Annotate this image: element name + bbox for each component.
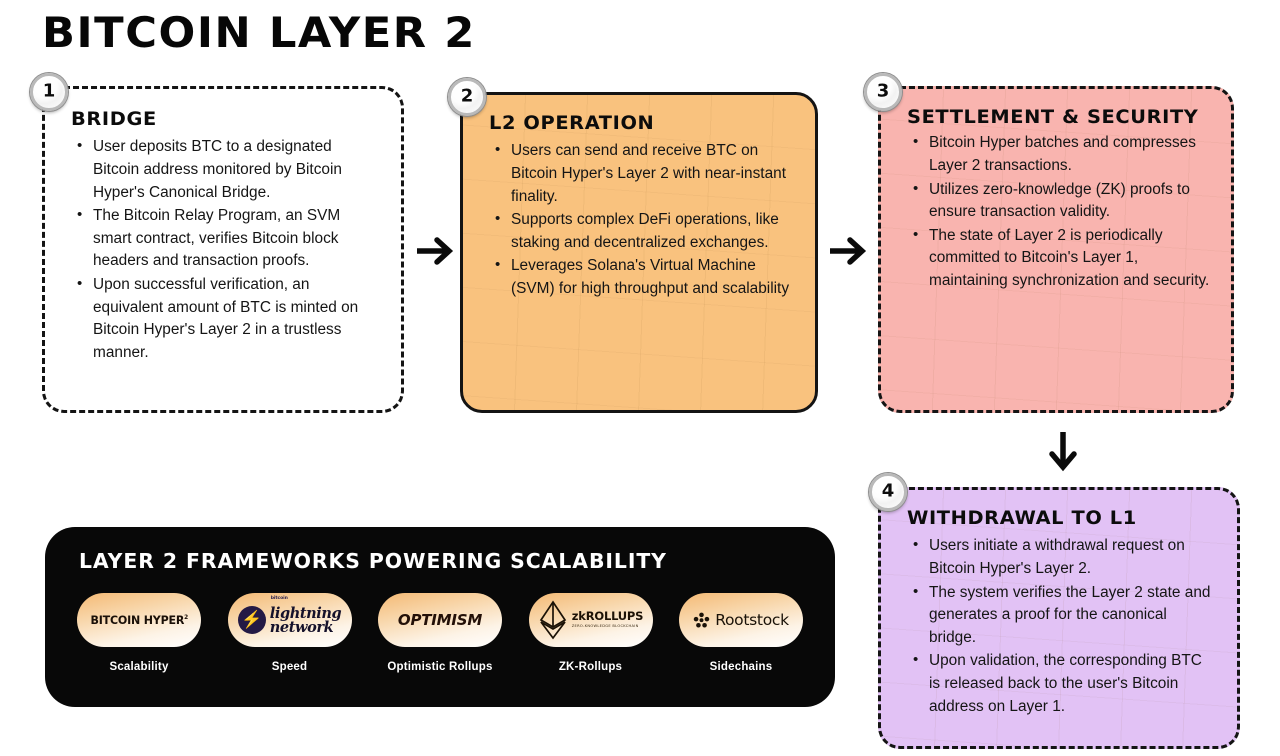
list-item: Supports complex DeFi operations, like s… xyxy=(509,209,795,254)
step-number-badge-1: 1 xyxy=(30,73,68,111)
infographic-canvas: BITCOIN LAYER 2 BRIDGE User deposits BTC… xyxy=(0,0,1280,756)
rootstock-cluster-icon xyxy=(693,612,710,629)
list-item: User deposits BTC to a designated Bitcoi… xyxy=(91,136,381,204)
list-item: Leverages Solana's Virtual Machine (SVM)… xyxy=(509,255,795,300)
step-bullet-list: User deposits BTC to a designated Bitcoi… xyxy=(71,136,381,364)
framework-item-zk-rollups[interactable]: zkROLLUPS ZERO-KNOWLEDGE BLOCKCHAIN ZK-R… xyxy=(521,593,661,673)
list-item: Users initiate a withdrawal request on B… xyxy=(927,535,1217,580)
bitcoin-hyper-logo-icon: BITCOIN HYPER2 xyxy=(77,593,201,647)
frameworks-title: LAYER 2 FRAMEWORKS POWERING SCALABILITY xyxy=(79,549,667,573)
step-bullet-list: Bitcoin Hyper batches and compresses Lay… xyxy=(907,132,1211,292)
framework-caption: Optimistic Rollups xyxy=(387,661,492,673)
arrow-right-icon xyxy=(415,234,455,273)
rootstock-logo-icon: Rootstock xyxy=(679,593,803,647)
logo-text-line2: network xyxy=(270,621,342,635)
lightning-bolt-icon: ⚡ xyxy=(238,606,266,634)
framework-item-scalability[interactable]: BITCOIN HYPER2 Scalability xyxy=(69,593,209,673)
list-item: Utilizes zero-knowledge (ZK) proofs to e… xyxy=(927,179,1211,224)
arrow-down-icon xyxy=(1042,430,1084,479)
step-number: 4 xyxy=(882,483,895,501)
optimism-logo-icon: OPTIMISM xyxy=(378,593,502,647)
step-bullet-list: Users can send and receive BTC on Bitcoi… xyxy=(489,140,795,300)
ethereum-diamond-icon xyxy=(538,599,568,641)
logo-text: Rootstock xyxy=(715,611,789,629)
frameworks-logo-row: BITCOIN HYPER2 Scalability ⚡ bitcoin lig… xyxy=(69,593,811,673)
page-title: BITCOIN LAYER 2 xyxy=(42,8,476,57)
step-title: WITHDRAWAL TO L1 xyxy=(907,508,1223,529)
step-title: SETTLEMENT & SECURITY xyxy=(907,107,1217,128)
list-item: The Bitcoin Relay Program, an SVM smart … xyxy=(91,205,381,273)
step-card-bridge: BRIDGE User deposits BTC to a designated… xyxy=(42,86,404,413)
step-number-badge-2: 2 xyxy=(448,78,486,116)
step-card-withdrawal-to-l1: WITHDRAWAL TO L1 Users initiate a withdr… xyxy=(878,487,1240,749)
logo-superscript: 2 xyxy=(184,614,188,621)
logo-text: BITCOIN HYPER xyxy=(90,613,184,627)
logo-micro-text: bitcoin xyxy=(271,597,288,602)
step-number: 2 xyxy=(461,88,474,106)
step-card-l2-operation: L2 OPERATION Users can send and receive … xyxy=(460,92,818,413)
list-item: Upon validation, the corresponding BTC i… xyxy=(927,650,1217,718)
lightning-network-logo-icon: ⚡ bitcoin lightning network xyxy=(228,593,352,647)
step-card-settlement-security: SETTLEMENT & SECURITY Bitcoin Hyper batc… xyxy=(878,86,1234,413)
zkrollups-logo-icon: zkROLLUPS ZERO-KNOWLEDGE BLOCKCHAIN xyxy=(529,593,653,647)
list-item: The state of Layer 2 is periodically com… xyxy=(927,225,1211,293)
step-number: 3 xyxy=(877,83,890,101)
step-bullet-list: Users initiate a withdrawal request on B… xyxy=(907,535,1217,718)
logo-subtitle: ZERO-KNOWLEDGE BLOCKCHAIN xyxy=(572,625,643,629)
list-item: Bitcoin Hyper batches and compresses Lay… xyxy=(927,132,1211,177)
framework-item-sidechains[interactable]: Rootstock Sidechains xyxy=(671,593,811,673)
step-title: BRIDGE xyxy=(71,109,387,130)
list-item: The system verifies the Layer 2 state an… xyxy=(927,582,1217,650)
logo-text: zkROLLUPS xyxy=(572,611,643,623)
framework-item-speed[interactable]: ⚡ bitcoin lightning network Speed xyxy=(220,593,360,673)
frameworks-panel: LAYER 2 FRAMEWORKS POWERING SCALABILITY … xyxy=(45,527,835,707)
step-number-badge-3: 3 xyxy=(864,73,902,111)
logo-text: OPTIMISM xyxy=(398,611,482,629)
list-item: Users can send and receive BTC on Bitcoi… xyxy=(509,140,795,208)
step-number-badge-4: 4 xyxy=(869,473,907,511)
list-item: Upon successful verification, an equival… xyxy=(91,274,381,365)
framework-item-optimistic-rollups[interactable]: OPTIMISM Optimistic Rollups xyxy=(370,593,510,673)
framework-caption: Scalability xyxy=(109,661,168,673)
arrow-right-icon xyxy=(828,234,868,273)
framework-caption: Sidechains xyxy=(710,661,773,673)
step-title: L2 OPERATION xyxy=(489,113,801,134)
framework-caption: ZK-Rollups xyxy=(559,661,622,673)
framework-caption: Speed xyxy=(272,661,308,673)
step-number: 1 xyxy=(43,83,56,101)
